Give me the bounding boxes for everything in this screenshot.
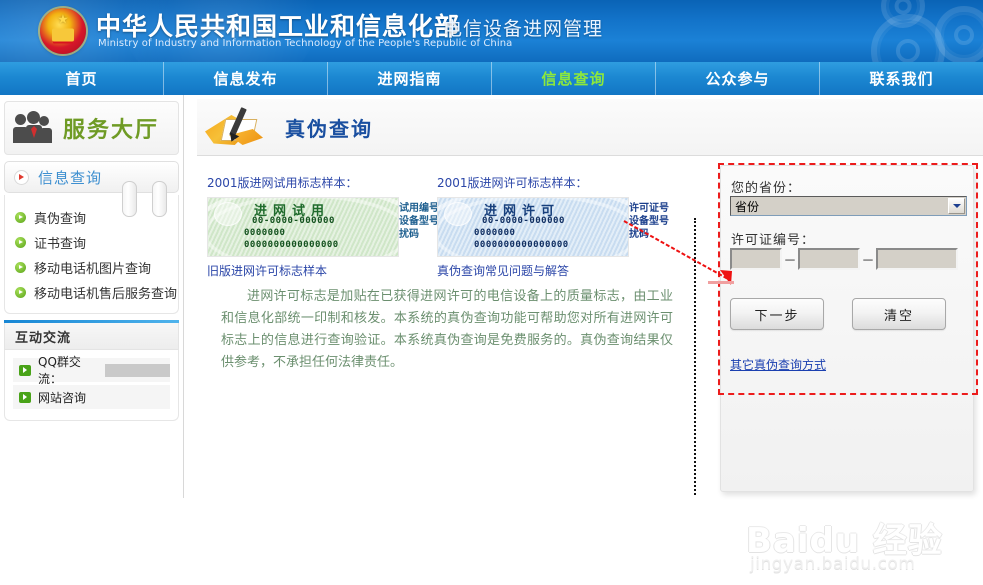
play-square-icon — [19, 392, 31, 403]
sidebar-section-label: 互动交流 — [15, 327, 71, 346]
gear-icon-large — [871, 14, 945, 62]
play-square-icon — [19, 365, 31, 376]
mark-line-2: 0000000 — [244, 228, 285, 238]
chevron-down-icon[interactable] — [948, 198, 965, 214]
people-group-icon — [13, 110, 53, 146]
sidebar-section-label: 信息查询 — [38, 167, 102, 188]
intro-paragraph: 进网许可标志是加贴在已获得进网许可的电信设备上的质量标志，由工业和信息化部统一印… — [221, 286, 673, 374]
license-mark-image: 进网许可 00-0000-000000 0000000 000000000000… — [437, 197, 629, 257]
province-select[interactable]: 省份 — [730, 196, 967, 216]
sidebar-item-label: 移动电话机售后服务查询 — [34, 283, 177, 302]
arrow-bullet-icon — [15, 237, 26, 248]
service-hall-title: 服务大厅 — [63, 112, 159, 144]
site-header: ★ 中华人民共和国工业和信息化部 Ministry of Industry an… — [0, 0, 983, 62]
license-separator-1: － — [782, 250, 798, 269]
main-content: 真伪查询 2001版进网试用标志样本： 进网试用 00-0000-00 — [184, 95, 983, 498]
ring-binder-decoration — [112, 181, 182, 221]
mark-emblem-icon — [214, 202, 242, 226]
nav-item-info-release[interactable]: 信息发布 — [164, 62, 328, 95]
province-selected-value: 省份 — [735, 198, 759, 215]
sidebar-item-qq-group[interactable]: QQ群交流： — [13, 358, 170, 382]
other-query-methods-link[interactable]: 其它真伪查询方式 — [730, 356, 826, 373]
license-number-inputs: － － — [730, 248, 958, 270]
nav-item-home[interactable]: 首页 — [0, 62, 164, 95]
sidebar-item-label: QQ群交流： — [38, 353, 101, 387]
gear-icon-medium — [935, 6, 983, 62]
faq-link[interactable]: 真伪查询常见问题与解答 — [437, 262, 629, 279]
national-emblem-icon: ★ — [40, 8, 86, 54]
redacted-value — [105, 364, 170, 377]
sample-trial-mark: 2001版进网试用标志样本： 进网试用 00-0000-000000 00000… — [207, 174, 399, 279]
page-root: ★ 中华人民共和国工业和信息化部 Ministry of Industry an… — [0, 0, 983, 498]
clear-button[interactable]: 清空 — [852, 298, 946, 330]
sidebar-item-phone-aftersales-query[interactable]: 移动电话机售后服务查询 — [5, 280, 178, 305]
mark-emblem-icon — [444, 202, 472, 226]
sidebar-item-label: 网站咨询 — [38, 389, 86, 406]
sample-caption: 2001版进网试用标志样本： — [207, 174, 399, 191]
main-navigation: 首页 信息发布 进网指南 信息查询 公众参与 联系我们 — [0, 62, 983, 95]
watermark-brand: Baidu 经验 — [746, 513, 943, 562]
sidebar-item-phone-image-query[interactable]: 移动电话机图片查询 — [5, 255, 178, 280]
sample-annotation-3: 扰码 — [629, 225, 649, 240]
sidebar-item-certificate-query[interactable]: 证书查询 — [5, 230, 178, 255]
content-area: 2001版进网试用标志样本： 进网试用 00-0000-000000 00000… — [197, 156, 983, 495]
mark-line-3: 0000000000000000 — [474, 240, 569, 250]
form-buttons: 下一步 清空 — [730, 298, 946, 330]
page-body: 服务大厅 信息查询 真伪查询 证书查询 — [0, 95, 983, 498]
mark-line-2: 0000000 — [474, 228, 515, 238]
province-label: 您的省份： — [731, 177, 801, 196]
license-number-label: 许可证编号： — [731, 229, 815, 248]
emblem-star: ★ — [57, 13, 69, 26]
baidu-watermark: Baidu 经验 jingyan.baidu.com — [740, 513, 983, 585]
old-version-mark-link[interactable]: 旧版进网许可标志样本 — [207, 262, 399, 279]
sidebar-item-label: 真伪查询 — [34, 208, 86, 227]
nav-item-contact-us[interactable]: 联系我们 — [820, 62, 983, 95]
arrow-bullet-icon — [15, 212, 26, 223]
license-input-part1[interactable] — [730, 248, 782, 270]
content-title-bar: 真伪查询 — [197, 99, 983, 156]
emblem-gate — [52, 28, 74, 41]
license-separator-2: － — [860, 250, 876, 269]
mark-line-3: 0000000000000000 — [244, 240, 339, 250]
nav-item-guide[interactable]: 进网指南 — [328, 62, 492, 95]
sample-annotation-3: 扰码 — [399, 225, 419, 240]
mark-line-1: 00-0000-000000 — [252, 216, 335, 226]
sidebar: 服务大厅 信息查询 真伪查询 证书查询 — [0, 95, 184, 498]
next-step-button[interactable]: 下一步 — [730, 298, 824, 330]
sidebar-interaction-list: QQ群交流： 网站咨询 — [4, 350, 179, 421]
license-input-part2[interactable] — [798, 248, 860, 270]
sample-license-mark: 2001版进网许可标志样本： 进网许可 00-0000-000000 00000… — [437, 174, 629, 279]
sidebar-item-label: 证书查询 — [34, 233, 86, 252]
trial-mark-image: 进网试用 00-0000-000000 0000000 000000000000… — [207, 197, 399, 257]
sidebar-section-interaction: 互动交流 — [4, 323, 179, 350]
mark-line-1: 00-0000-000000 — [482, 216, 565, 226]
sidebar-item-site-consult[interactable]: 网站咨询 — [13, 385, 170, 409]
watermark-url: jingyan.baidu.com — [750, 554, 915, 574]
play-bullet-icon — [14, 170, 29, 185]
site-subtitle: 电信设备进网管理 — [443, 14, 603, 41]
page-title: 真伪查询 — [285, 113, 373, 142]
vertical-dotted-divider — [694, 218, 696, 495]
nav-item-info-query[interactable]: 信息查询 — [492, 62, 656, 95]
nav-item-public-participation[interactable]: 公众参与 — [656, 62, 820, 95]
arrow-bullet-icon — [15, 287, 26, 298]
sidebar-item-label: 移动电话机图片查询 — [34, 258, 151, 277]
pen-writing-icon — [205, 105, 273, 149]
service-hall-banner: 服务大厅 — [4, 101, 179, 155]
license-input-part3[interactable] — [876, 248, 958, 270]
arrow-bullet-icon — [15, 262, 26, 273]
sample-caption: 2001版进网许可标志样本： — [437, 174, 629, 191]
